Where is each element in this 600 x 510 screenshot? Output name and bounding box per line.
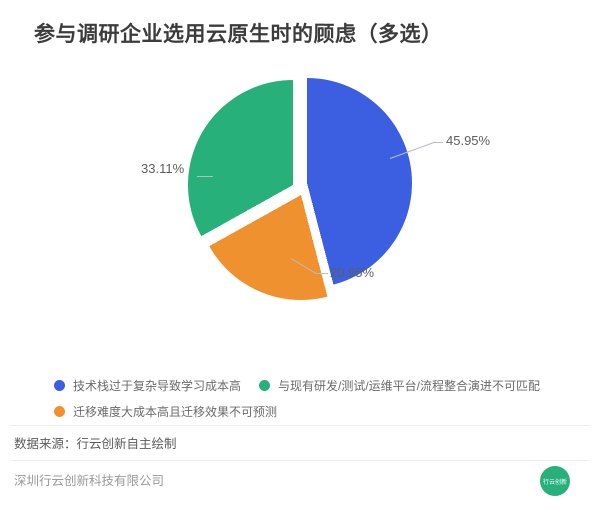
- legend-label-2: 迁移难度大成本高且迁移效果不可预测: [73, 403, 277, 420]
- legend-label-0: 技术栈过于复杂导致学习成本高: [73, 377, 241, 394]
- page-title: 参与调研企业选用云原生时的顾虑（多选）: [34, 20, 574, 50]
- value-label-orange: 20.95%: [330, 265, 374, 280]
- legend: 技术栈过于复杂导致学习成本高 与现有研发/测试/运维平台/流程整合演进不可匹配 …: [54, 375, 574, 427]
- legend-dot-icon: [259, 380, 270, 391]
- logo-text: 行云创新: [540, 477, 570, 486]
- brand-logo-icon: 行云创新: [540, 466, 572, 498]
- legend-row-1: 技术栈过于复杂导致学习成本高 与现有研发/测试/运维平台/流程整合演进不可匹配: [54, 375, 574, 395]
- legend-item-0[interactable]: 技术栈过于复杂导致学习成本高: [54, 377, 241, 394]
- legend-dot-icon: [54, 380, 65, 391]
- value-label-green: 33.11%: [141, 161, 184, 176]
- legend-item-2[interactable]: 迁移难度大成本高且迁移效果不可预测: [54, 403, 277, 420]
- company-text: 深圳行云创新科技有限公司: [14, 470, 164, 489]
- legend-item-1[interactable]: 与现有研发/测试/运维平台/流程整合演进不可匹配: [259, 377, 540, 394]
- source-text: 数据来源：行云创新自主绘制: [14, 433, 177, 452]
- pie-graphic: [196, 82, 406, 292]
- chart-page: 参与调研企业选用云原生时的顾虑（多选） 45.95% 33.11% 20.95%…: [0, 0, 600, 510]
- divider-bottom: [10, 460, 590, 461]
- pie-chart: 45.95% 33.11% 20.95%: [0, 70, 600, 350]
- leader-line-orange-tail: [316, 273, 328, 274]
- leader-line-green: [197, 176, 213, 177]
- legend-dot-icon: [54, 406, 65, 417]
- leader-line-blue-tail: [433, 142, 443, 143]
- divider-top: [10, 425, 590, 426]
- pie-slice-blue[interactable]: [202, 78, 412, 288]
- legend-row-2: 迁移难度大成本高且迁移效果不可预测: [54, 401, 574, 421]
- value-label-blue: 45.95%: [446, 133, 490, 148]
- legend-label-1: 与现有研发/测试/运维平台/流程整合演进不可匹配: [278, 377, 540, 394]
